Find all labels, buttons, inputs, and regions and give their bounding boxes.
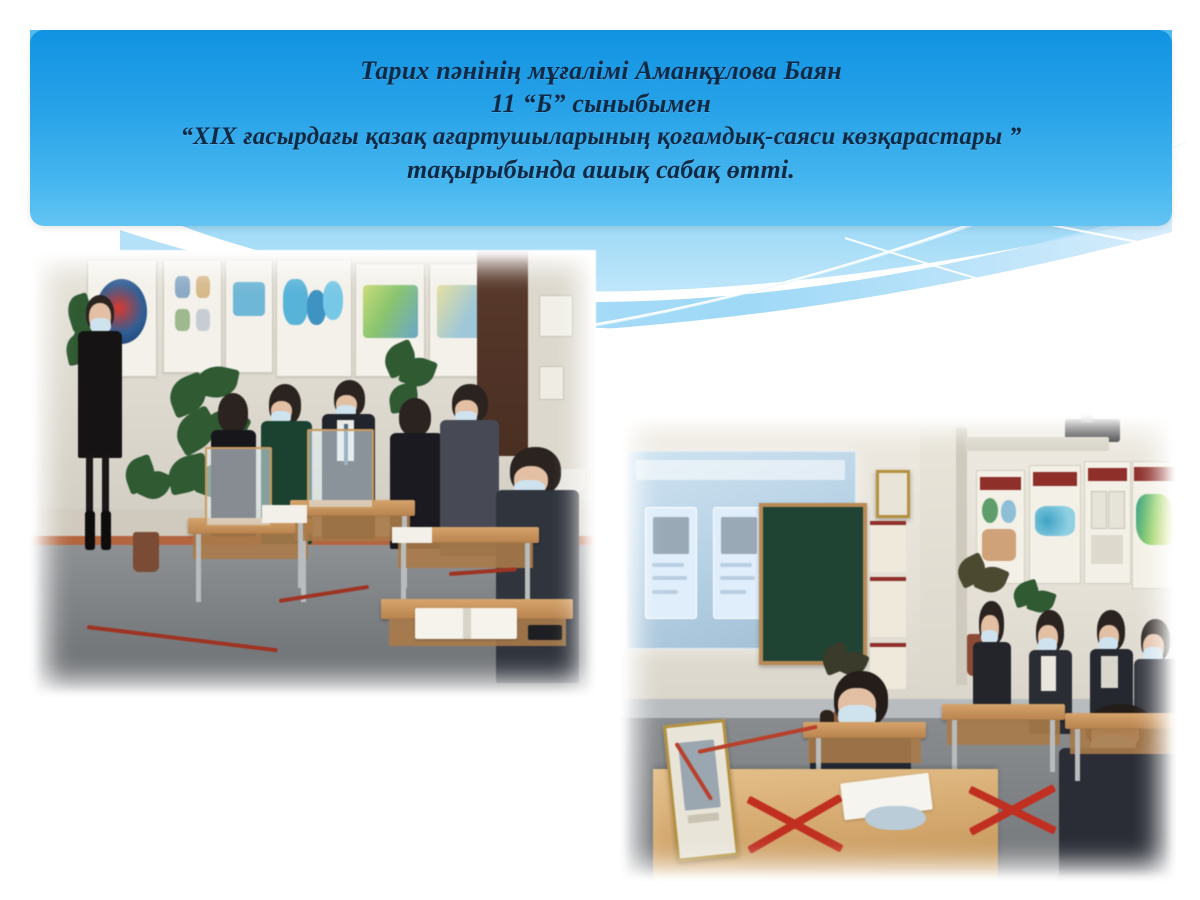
title-line-3: “XIX ғасырдағы қазақ ағартушыларының қоғ…	[180, 120, 1021, 153]
presentation-slide: Тарих пәнінің мұғалімі Аманқұлова Баян 1…	[0, 0, 1200, 900]
title-line-1: Тарих пәнінің мұғалімі Аманқұлова Баян	[360, 54, 842, 87]
title-banner: Тарих пәнінің мұғалімі Аманқұлова Баян 1…	[30, 30, 1172, 226]
photo-classroom-left	[30, 250, 596, 697]
photo-right-scene	[620, 414, 1176, 881]
person-teacher	[70, 295, 132, 572]
chalkboard	[759, 503, 867, 665]
photo-left-scene	[30, 250, 596, 697]
title-line-2: 11 “Б” сыныбымен	[491, 87, 711, 120]
title-line-4: тақырыбында ашық сабақ өтті.	[407, 153, 795, 186]
photo-classroom-right	[620, 414, 1176, 881]
